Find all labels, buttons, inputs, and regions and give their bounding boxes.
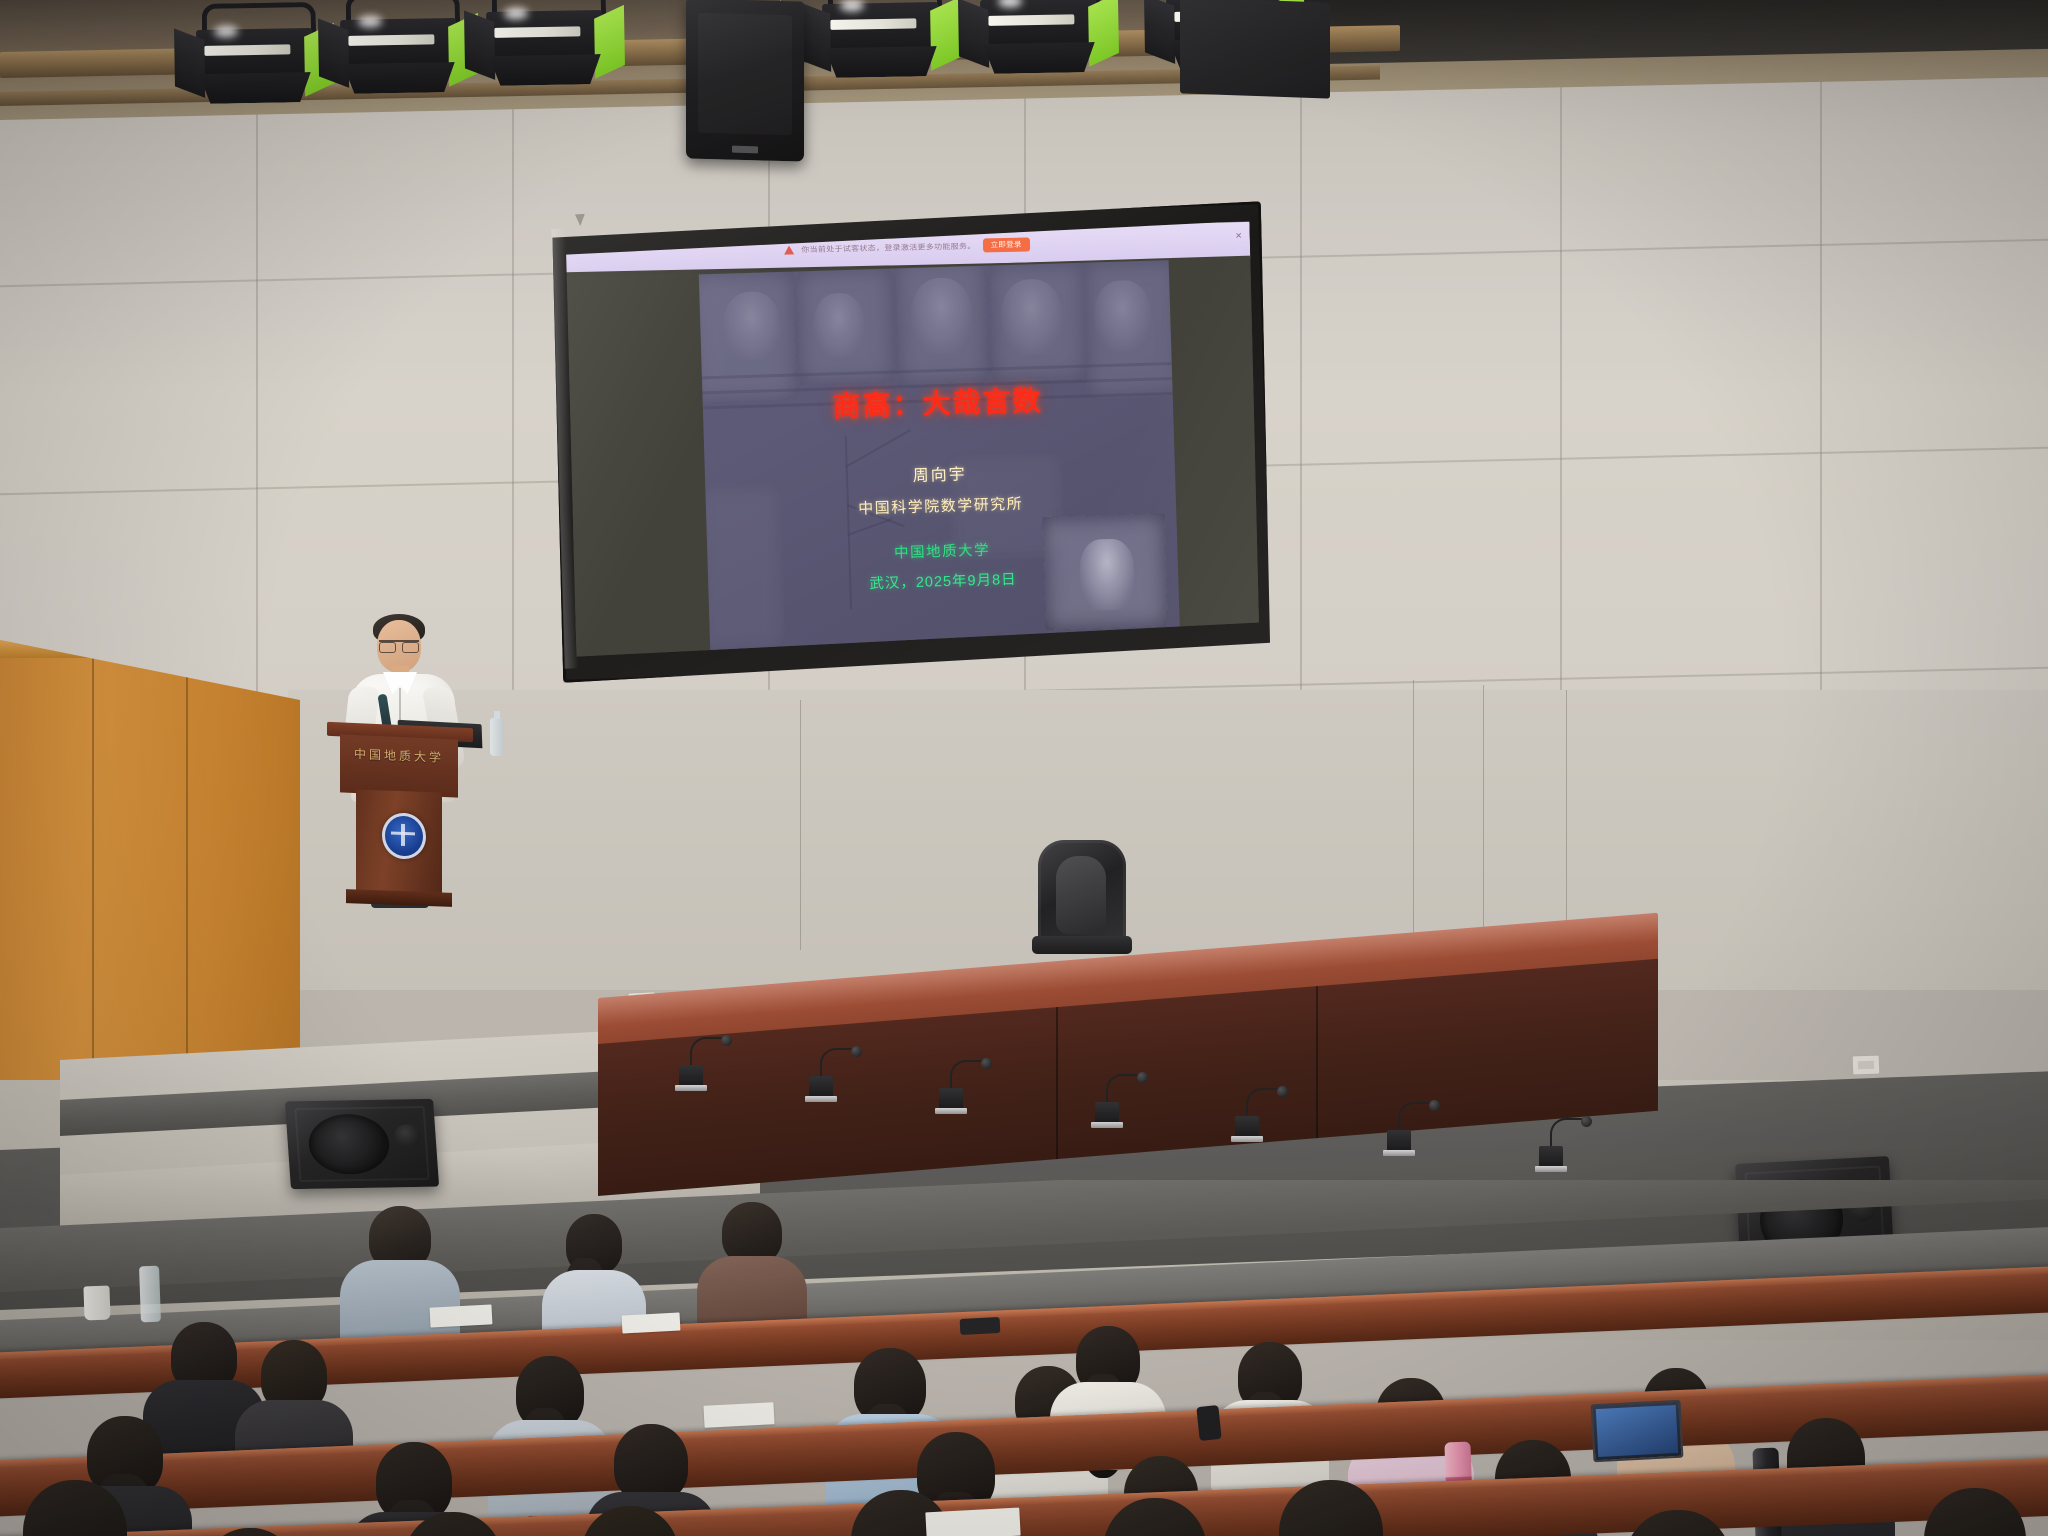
notebook-2 bbox=[622, 1312, 681, 1333]
warning-triangle-icon bbox=[784, 245, 794, 254]
audience-person-26 bbox=[1900, 1488, 2048, 1536]
slide-content: 商高：大哉言数 周向宇 中国科学院数学研究所 中国地质大学 武汉，2025年9月… bbox=[699, 260, 1180, 651]
water-bottle-1 bbox=[139, 1266, 161, 1323]
audience-person-28 bbox=[180, 1528, 320, 1536]
audience-person-21 bbox=[560, 1506, 700, 1536]
audience-laptop bbox=[1591, 1400, 1684, 1463]
close-icon[interactable]: × bbox=[1235, 231, 1242, 242]
smartphone-1 bbox=[1196, 1405, 1221, 1441]
ceiling-panel-right bbox=[1180, 0, 1330, 99]
slide-letterbox: 商高：大哉言数 周向宇 中国科学院数学研究所 中国地质大学 武汉，2025年9月… bbox=[565, 256, 1262, 659]
lecture-hall-photo: 你当前处于试客状态，登录激活更多功能服务。 立即登录 × bbox=[0, 0, 2048, 1536]
wall-outlet bbox=[1852, 1055, 1881, 1076]
login-button[interactable]: 立即登录 bbox=[982, 238, 1029, 252]
notebook-1 bbox=[430, 1304, 493, 1327]
notebook-3 bbox=[960, 1317, 1001, 1335]
audience-area bbox=[0, 1180, 2048, 1536]
university-emblem bbox=[382, 812, 426, 860]
audience-person-27 bbox=[380, 1512, 526, 1536]
ceiling-speaker bbox=[686, 0, 804, 162]
lectern: 中国地质大学 bbox=[330, 725, 470, 905]
stage-monitor-speaker bbox=[285, 1099, 439, 1189]
audience-person-20 bbox=[0, 1480, 150, 1536]
glasses-icon bbox=[379, 640, 419, 651]
paper-cup-1 bbox=[83, 1286, 110, 1321]
notification-message: 你当前处于试客状态，登录激活更多功能服务。 bbox=[801, 241, 975, 255]
presenter-water-bottle bbox=[490, 718, 504, 756]
notebook-5 bbox=[925, 1508, 1020, 1536]
audience-person-23 bbox=[1080, 1498, 1230, 1536]
presentation-display[interactable]: 你当前处于试客状态，登录激活更多功能服务。 立即登录 × bbox=[549, 201, 1275, 683]
hanging-cable-1 bbox=[800, 700, 801, 950]
audience-person-3 bbox=[706, 1202, 798, 1322]
audience-person-24 bbox=[1256, 1480, 1406, 1536]
display-screen: 你当前处于试客状态，登录激活更多功能服务。 立即登录 × bbox=[564, 220, 1262, 659]
notebook-4 bbox=[703, 1402, 774, 1428]
audience-person-25 bbox=[1600, 1510, 1756, 1536]
hanging-cable-2 bbox=[1413, 680, 1414, 970]
panel-table bbox=[598, 940, 1658, 1200]
